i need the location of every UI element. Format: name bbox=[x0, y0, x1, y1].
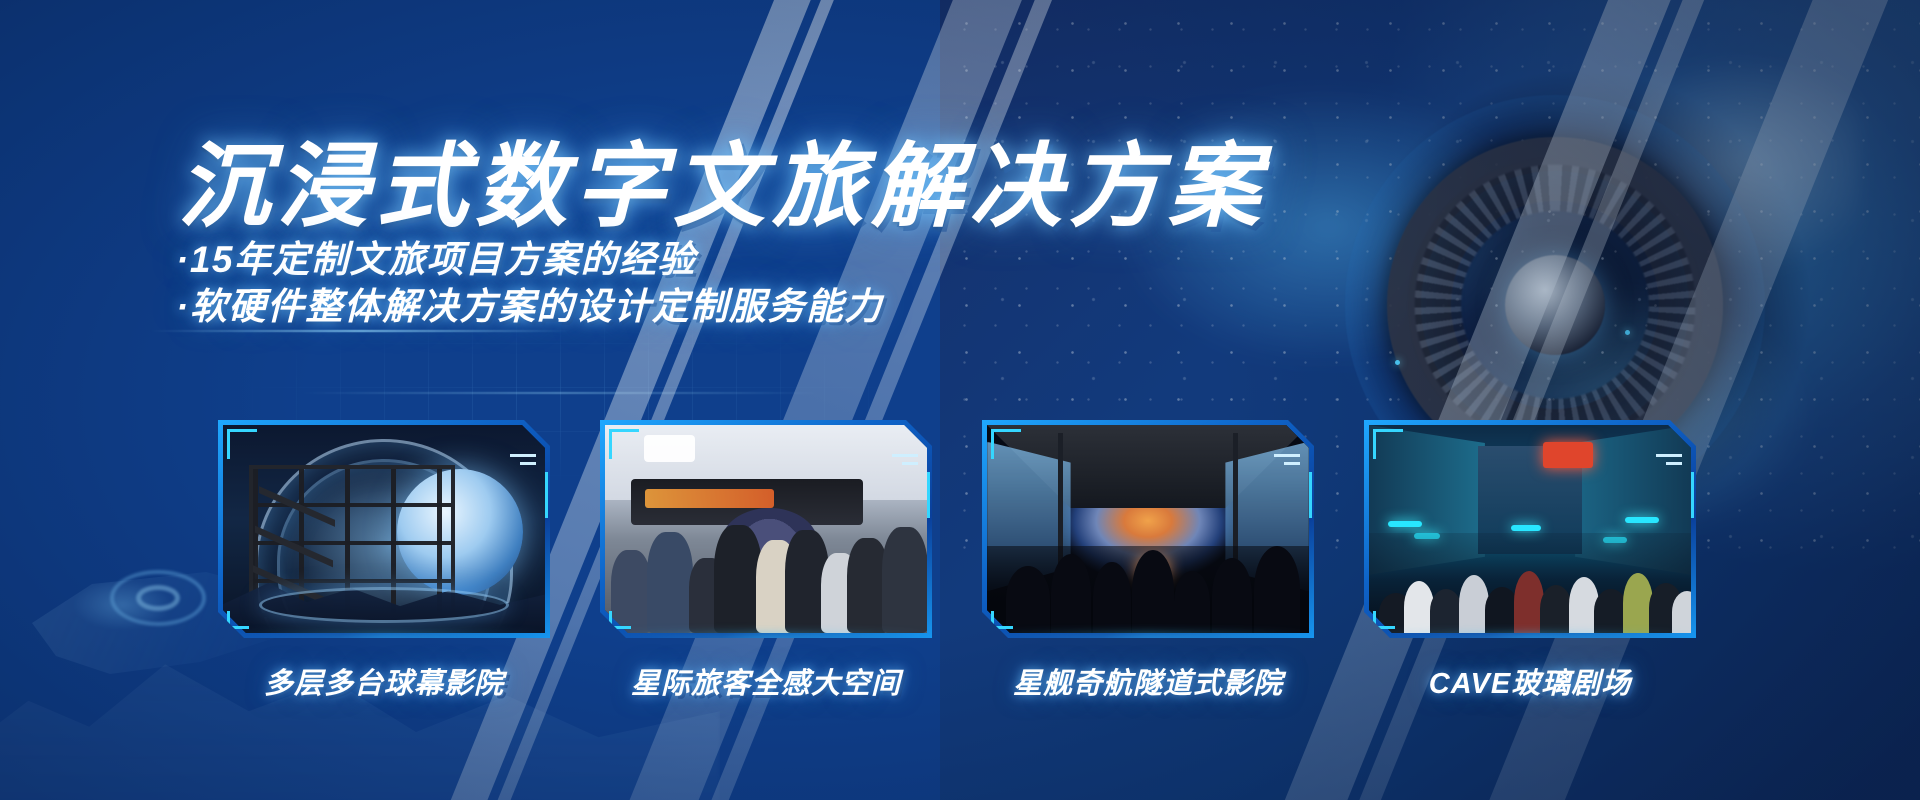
card-frame bbox=[600, 420, 932, 638]
booth-logo bbox=[644, 435, 696, 462]
subtitle-line-2: ·软硬件整体解决方案的设计定制服务能力 bbox=[176, 283, 883, 330]
card-image bbox=[1369, 425, 1691, 633]
person bbox=[1174, 571, 1210, 633]
card-caption: 多层多台球幕影院 bbox=[218, 660, 550, 702]
cave-light bbox=[1625, 517, 1659, 523]
crowd-group bbox=[605, 504, 927, 633]
frame-tick bbox=[520, 462, 536, 465]
frame-glow bbox=[600, 634, 932, 644]
frame-tick bbox=[1666, 462, 1682, 465]
cave-light bbox=[1388, 521, 1422, 527]
frame-tick-vertical bbox=[545, 472, 548, 518]
person bbox=[1093, 562, 1131, 633]
card-caption: 星际旅客全感大空间 bbox=[600, 660, 932, 702]
expo-booth-scene bbox=[605, 425, 927, 633]
person bbox=[1006, 566, 1050, 633]
person bbox=[1254, 546, 1300, 633]
card-frame bbox=[1364, 420, 1696, 638]
cave-red-panel bbox=[1543, 442, 1593, 468]
person bbox=[1540, 585, 1572, 633]
tunnel-theater-scene bbox=[987, 425, 1309, 633]
card-caption: 星舰奇航隧道式影院 bbox=[982, 660, 1314, 702]
frame-tick bbox=[1284, 462, 1300, 465]
person bbox=[882, 527, 927, 633]
hero-banner: 沉浸式数字文旅解决方案 ·15年定制文旅项目方案的经验 ·软硬件整体解决方案的设… bbox=[0, 0, 1920, 800]
person bbox=[1132, 550, 1174, 633]
showcase-card[interactable]: CAVE玻璃剧场 bbox=[1364, 420, 1696, 702]
person bbox=[1212, 558, 1252, 633]
frame-tick bbox=[1656, 454, 1682, 457]
cave-light bbox=[1511, 525, 1541, 531]
frame-tick bbox=[892, 454, 918, 457]
showcase-card[interactable]: 星舰奇航隧道式影院 bbox=[982, 420, 1314, 702]
card-image bbox=[223, 425, 545, 633]
person bbox=[647, 532, 693, 633]
frame-tick bbox=[1274, 454, 1300, 457]
frame-tick-vertical bbox=[1691, 472, 1694, 518]
frame-tick bbox=[902, 462, 918, 465]
person bbox=[1051, 554, 1091, 633]
subtitle-group: ·15年定制文旅项目方案的经验 ·软硬件整体解决方案的设计定制服务能力 bbox=[176, 236, 883, 331]
frame-tick bbox=[510, 454, 536, 457]
card-frame bbox=[982, 420, 1314, 638]
audience-group bbox=[1369, 533, 1691, 633]
showcase-card[interactable]: 多层多台球幕影院 bbox=[218, 420, 550, 702]
showcase-card[interactable]: 星际旅客全感大空间 bbox=[600, 420, 932, 702]
page-title: 沉浸式数字文旅解决方案 bbox=[178, 112, 1267, 245]
frame-glow bbox=[1364, 634, 1696, 644]
person bbox=[611, 550, 651, 633]
frame-tick-vertical bbox=[927, 472, 930, 518]
dome-theater-scene bbox=[223, 425, 545, 633]
person bbox=[1430, 589, 1462, 633]
card-image bbox=[987, 425, 1309, 633]
card-image bbox=[605, 425, 927, 633]
cave-theater-scene bbox=[1369, 425, 1691, 633]
card-frame bbox=[218, 420, 550, 638]
card-caption: CAVE玻璃剧场 bbox=[1364, 660, 1696, 702]
subtitle-line-1: ·15年定制文旅项目方案的经验 bbox=[176, 236, 883, 283]
frame-glow bbox=[982, 634, 1314, 644]
person bbox=[714, 525, 762, 633]
frame-glow bbox=[218, 634, 550, 644]
frame-tick-vertical bbox=[1309, 472, 1312, 518]
floor-ring bbox=[259, 587, 509, 623]
